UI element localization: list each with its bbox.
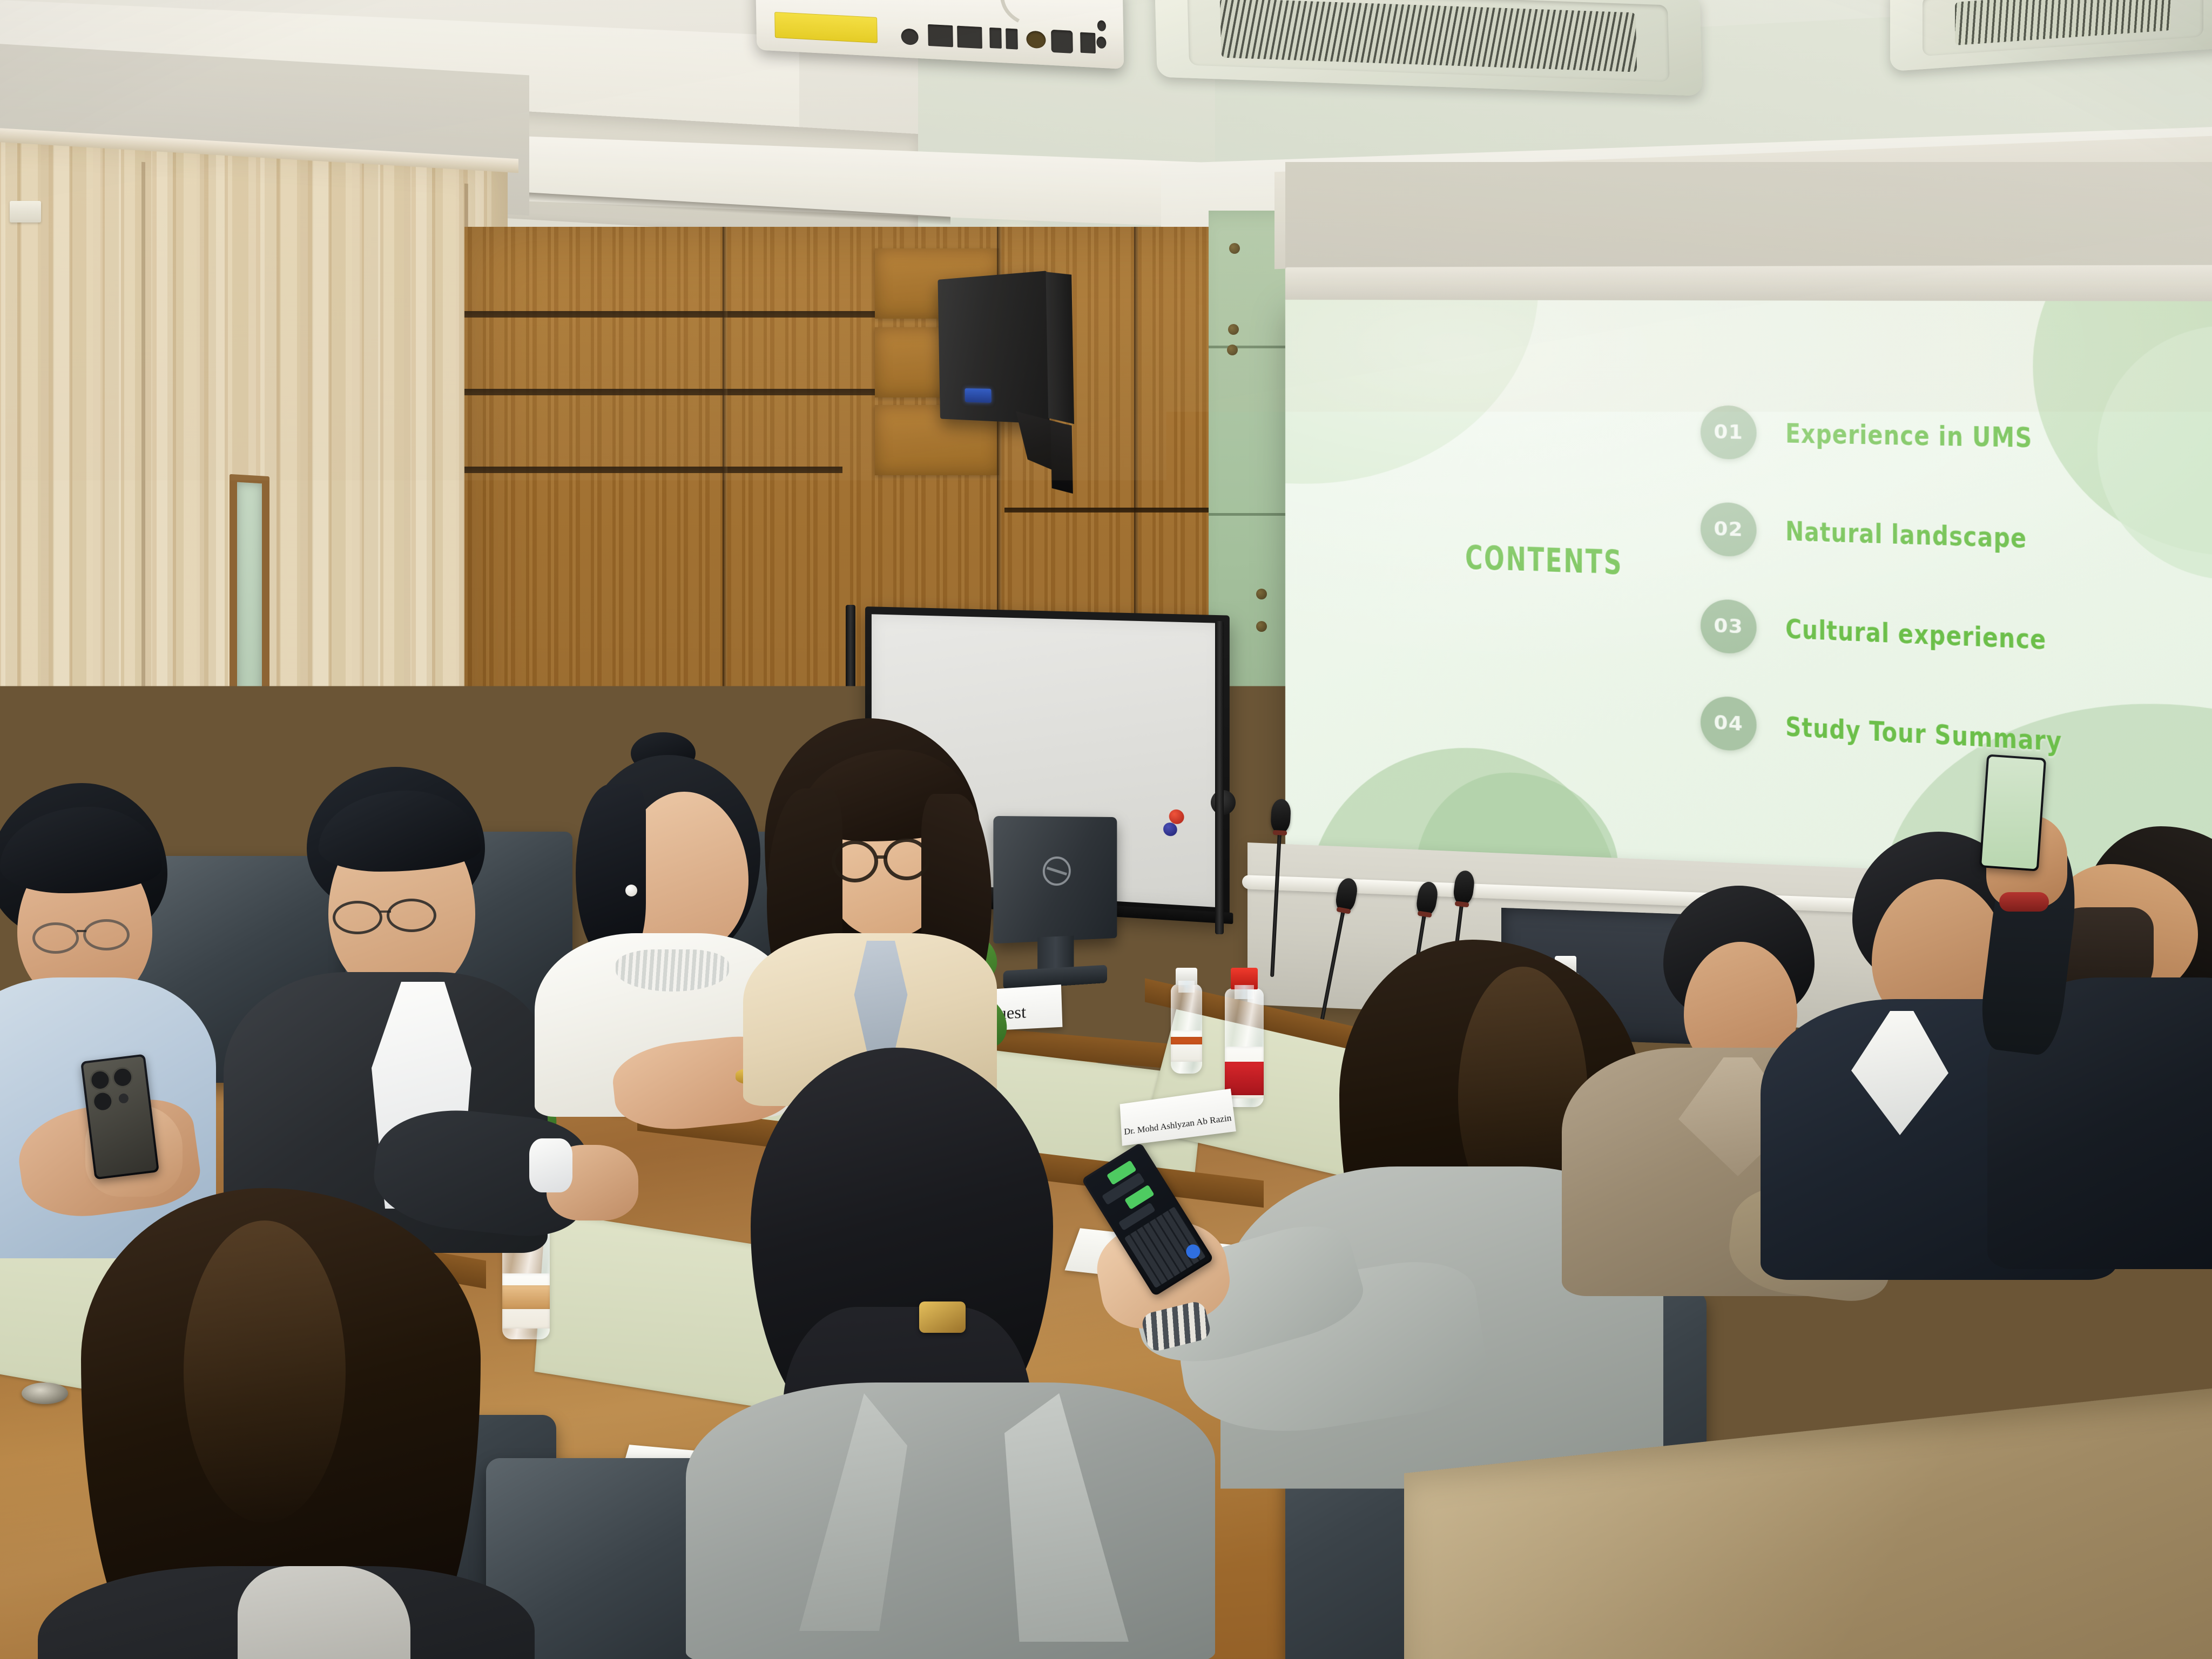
chair-row-right-3[interactable] [2074, 1091, 2212, 1534]
person-woman-long-hair-front [22, 1188, 605, 1659]
speaker-brand-badge [965, 388, 992, 403]
chair-asset-tag [2031, 1507, 2049, 1520]
slide-item-number-2: 02 [1701, 502, 1757, 557]
whiteboard-leg-right [1215, 621, 1224, 934]
person-woman-hijab [702, 1048, 1188, 1659]
slide-contents-item-3: 03 Cultural experience [1701, 591, 2212, 686]
slide-contents-item-1: 01 Experience in UMS [1701, 397, 2212, 479]
person-woman-glasses-cream [745, 718, 1004, 1096]
phone-man-photographing[interactable] [1979, 754, 2046, 871]
eyeglasses-icon [32, 922, 79, 954]
hair-highlight [184, 1220, 346, 1523]
eyeglasses-bridge [77, 930, 86, 932]
hijab-brooch-icon[interactable] [919, 1301, 966, 1333]
slide-item-number-4: 04 [1701, 695, 1757, 752]
slide-item-label-1: Experience in UMS [1785, 418, 2032, 454]
scarf [238, 1566, 410, 1659]
wall-socket-plate[interactable] [10, 201, 41, 222]
shirt-cuff [529, 1138, 572, 1192]
eyeglasses-right-lens [387, 899, 436, 932]
eyeglasses-icon [832, 840, 878, 882]
eyeglasses-bridge [380, 911, 391, 913]
chair-row-right-4[interactable] [1782, 1048, 2009, 1328]
slide-contents-item-2: 02 Natural landscape [1701, 494, 2212, 582]
blouse-beading [616, 949, 729, 992]
eyeglasses-icon [333, 901, 382, 934]
wristband [1999, 892, 2049, 912]
eyeglasses-right-lens [884, 838, 930, 880]
earring [625, 885, 637, 896]
slide-heading: CONTENTS [1465, 539, 1623, 582]
whiteboard-magnet-blue[interactable] [1163, 822, 1177, 837]
loudspeaker-icon [938, 271, 1049, 424]
eyeglasses-bridge [877, 855, 887, 859]
slide-item-label-3: Cultural experience [1785, 613, 2046, 656]
slide-item-number-3: 03 [1701, 598, 1757, 655]
eyeglasses-right-lens [83, 919, 130, 950]
whiteboard-magnet-red[interactable] [1169, 809, 1184, 824]
slide-decor-blob-1 [1285, 300, 1539, 490]
slide-item-label-2: Natural landscape [1785, 516, 2027, 555]
slide-item-number-1: 01 [1701, 405, 1757, 460]
person-man-dark-suit [216, 767, 551, 1253]
chair-asset-tag [1815, 1577, 1833, 1590]
wallpaper-seam-1 [141, 162, 145, 837]
grey-blazer [686, 1382, 1215, 1659]
conference-room-photo: CONTENTS 01 Experience in UMS 02 Natural… [0, 0, 2212, 1659]
